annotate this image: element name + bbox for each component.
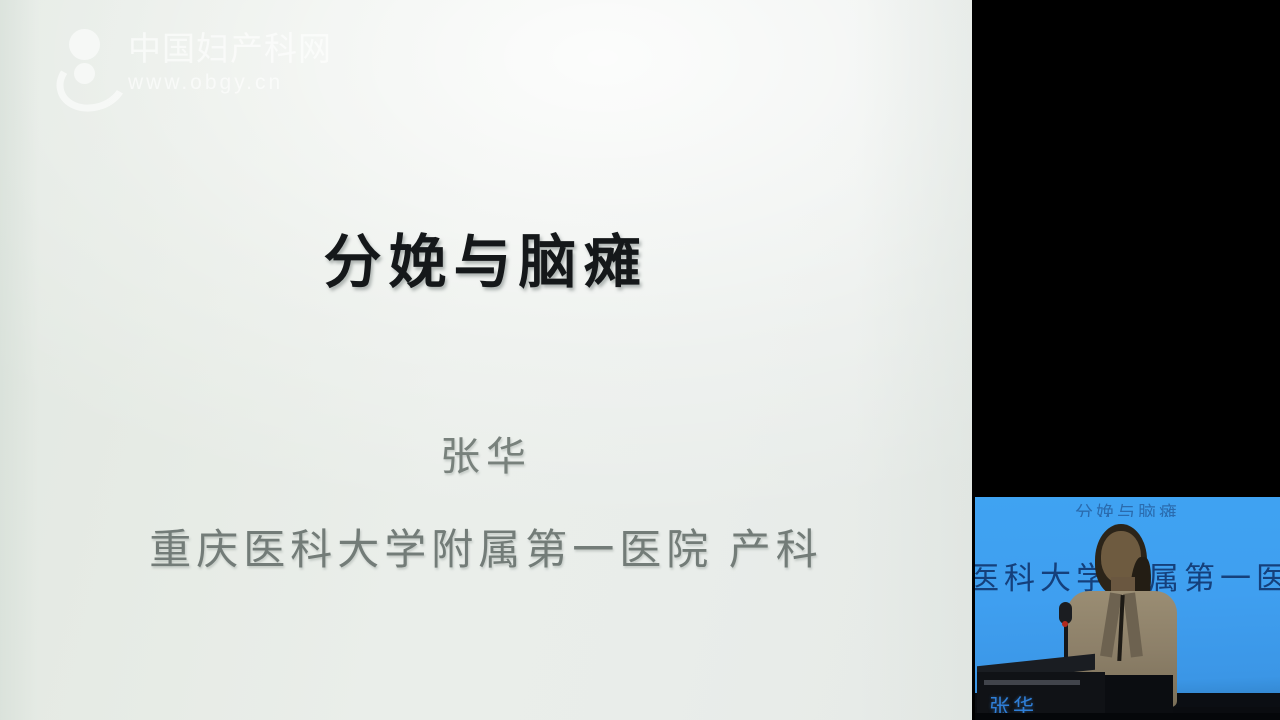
mother-baby-logo-icon [55,27,117,97]
stage-floor [975,713,1280,720]
watermark-brand-url: www.obgy.cn [128,72,332,93]
video-panel-letterbox [972,0,1280,497]
logo-arc-shape [49,44,134,120]
video-side-panel: 分娩与脑瘫 医科大学附属第一医 张华 [972,0,1280,720]
microphone-indicator-light [1062,621,1068,627]
watermark-brand-cn: 中国妇产科网 [128,32,332,65]
podium-trim [984,680,1080,685]
slide-author: 张华 [0,424,972,482]
slide-affiliation: 重庆医科大学附属第一医院 产科 [0,516,972,577]
slide-canvas: 中国妇产科网 www.obgy.cn 分娩与脑瘫 张华 重庆医科大学附属第一医院… [0,0,972,720]
projected-title-text: 分娩与脑瘫 [975,499,1280,517]
logo-body-shape [74,63,95,84]
site-watermark: 中国妇产科网 www.obgy.cn [55,27,332,97]
presentation-player-screen: 中国妇产科网 www.obgy.cn 分娩与脑瘫 张华 重庆医科大学附属第一医院… [0,0,1280,720]
watermark-text-group: 中国妇产科网 www.obgy.cn [128,32,332,93]
speaker-video-feed[interactable]: 分娩与脑瘫 医科大学附属第一医 张华 [975,497,1280,720]
slide-title: 分娩与脑瘫 [0,215,972,299]
